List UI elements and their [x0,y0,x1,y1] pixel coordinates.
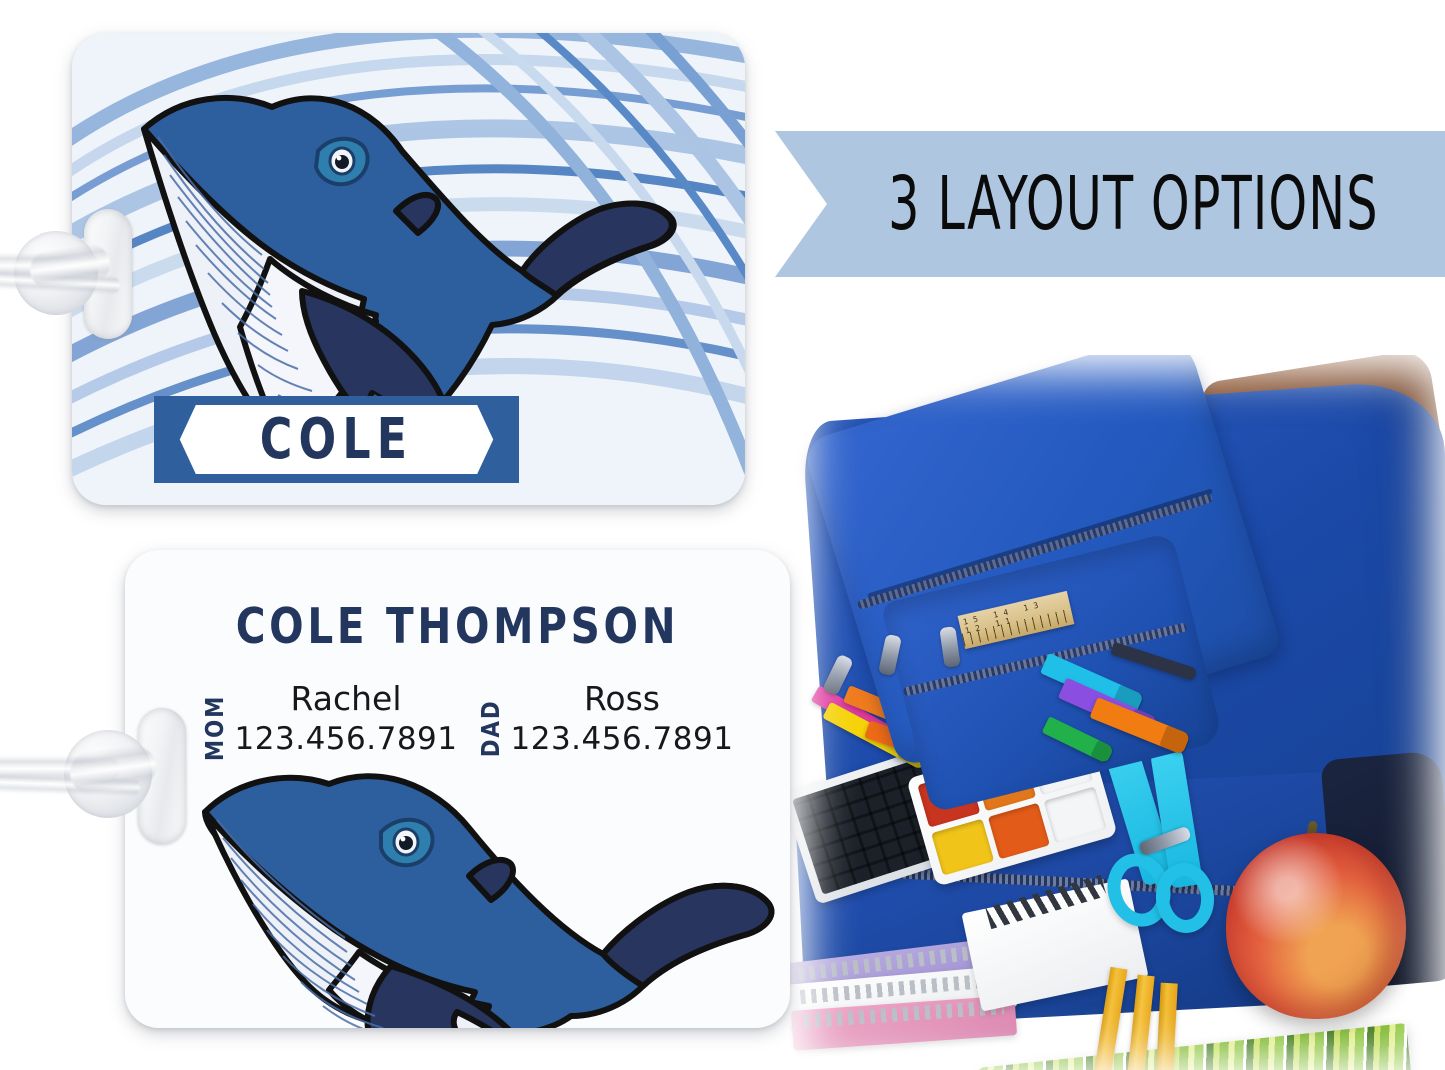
contact-details: Rachel 123.456.7891 [235,678,458,760]
contact-dad: DAD Ross 123.456.7891 [476,675,734,763]
whale-eye [316,139,368,184]
luggage-tag-layout-1[interactable]: COLE [72,33,745,505]
apple [1226,833,1406,1019]
notebook-green-striped [978,1023,1423,1070]
name-ribbon: COLE [154,396,519,483]
contact-details: Ross 123.456.7891 [511,678,734,760]
contact-mom: MOM Rachel 123.456.7891 [200,675,458,763]
luggage-tag-layout-2[interactable]: COLE THOMPSON MOM Rachel 123.456.7891 DA… [125,550,790,1028]
layout-options-banner: 3 LAYOUT OPTIONS [775,131,1445,277]
whale-eye [381,820,433,865]
contact-name: Ross [511,678,734,720]
contact-phone: 123.456.7891 [511,720,734,760]
backpack-school-supplies-photo: 15 14 13 12 11 [790,355,1445,1070]
contact-relation-label: DAD [476,699,505,757]
contacts-row: MOM Rachel 123.456.7891 DAD Ross 123.456… [125,675,790,763]
contact-relation-label: MOM [200,695,229,761]
contact-name: Rachel [235,678,458,720]
tag-top-inner: COLE [72,33,745,505]
whale-illustration [183,740,790,1028]
tag-bottom-inner: COLE THOMPSON MOM Rachel 123.456.7891 DA… [125,550,790,1028]
banner-arrow-notch-icon [775,131,827,277]
tag-bottom-text-block: COLE THOMPSON MOM Rachel 123.456.7891 DA… [125,550,790,763]
contact-phone: 123.456.7891 [235,720,458,760]
banner-label: 3 LAYOUT OPTIONS [888,161,1378,247]
tag-top-name: COLE [176,396,497,483]
tag-bottom-title: COLE THOMPSON [152,598,764,655]
